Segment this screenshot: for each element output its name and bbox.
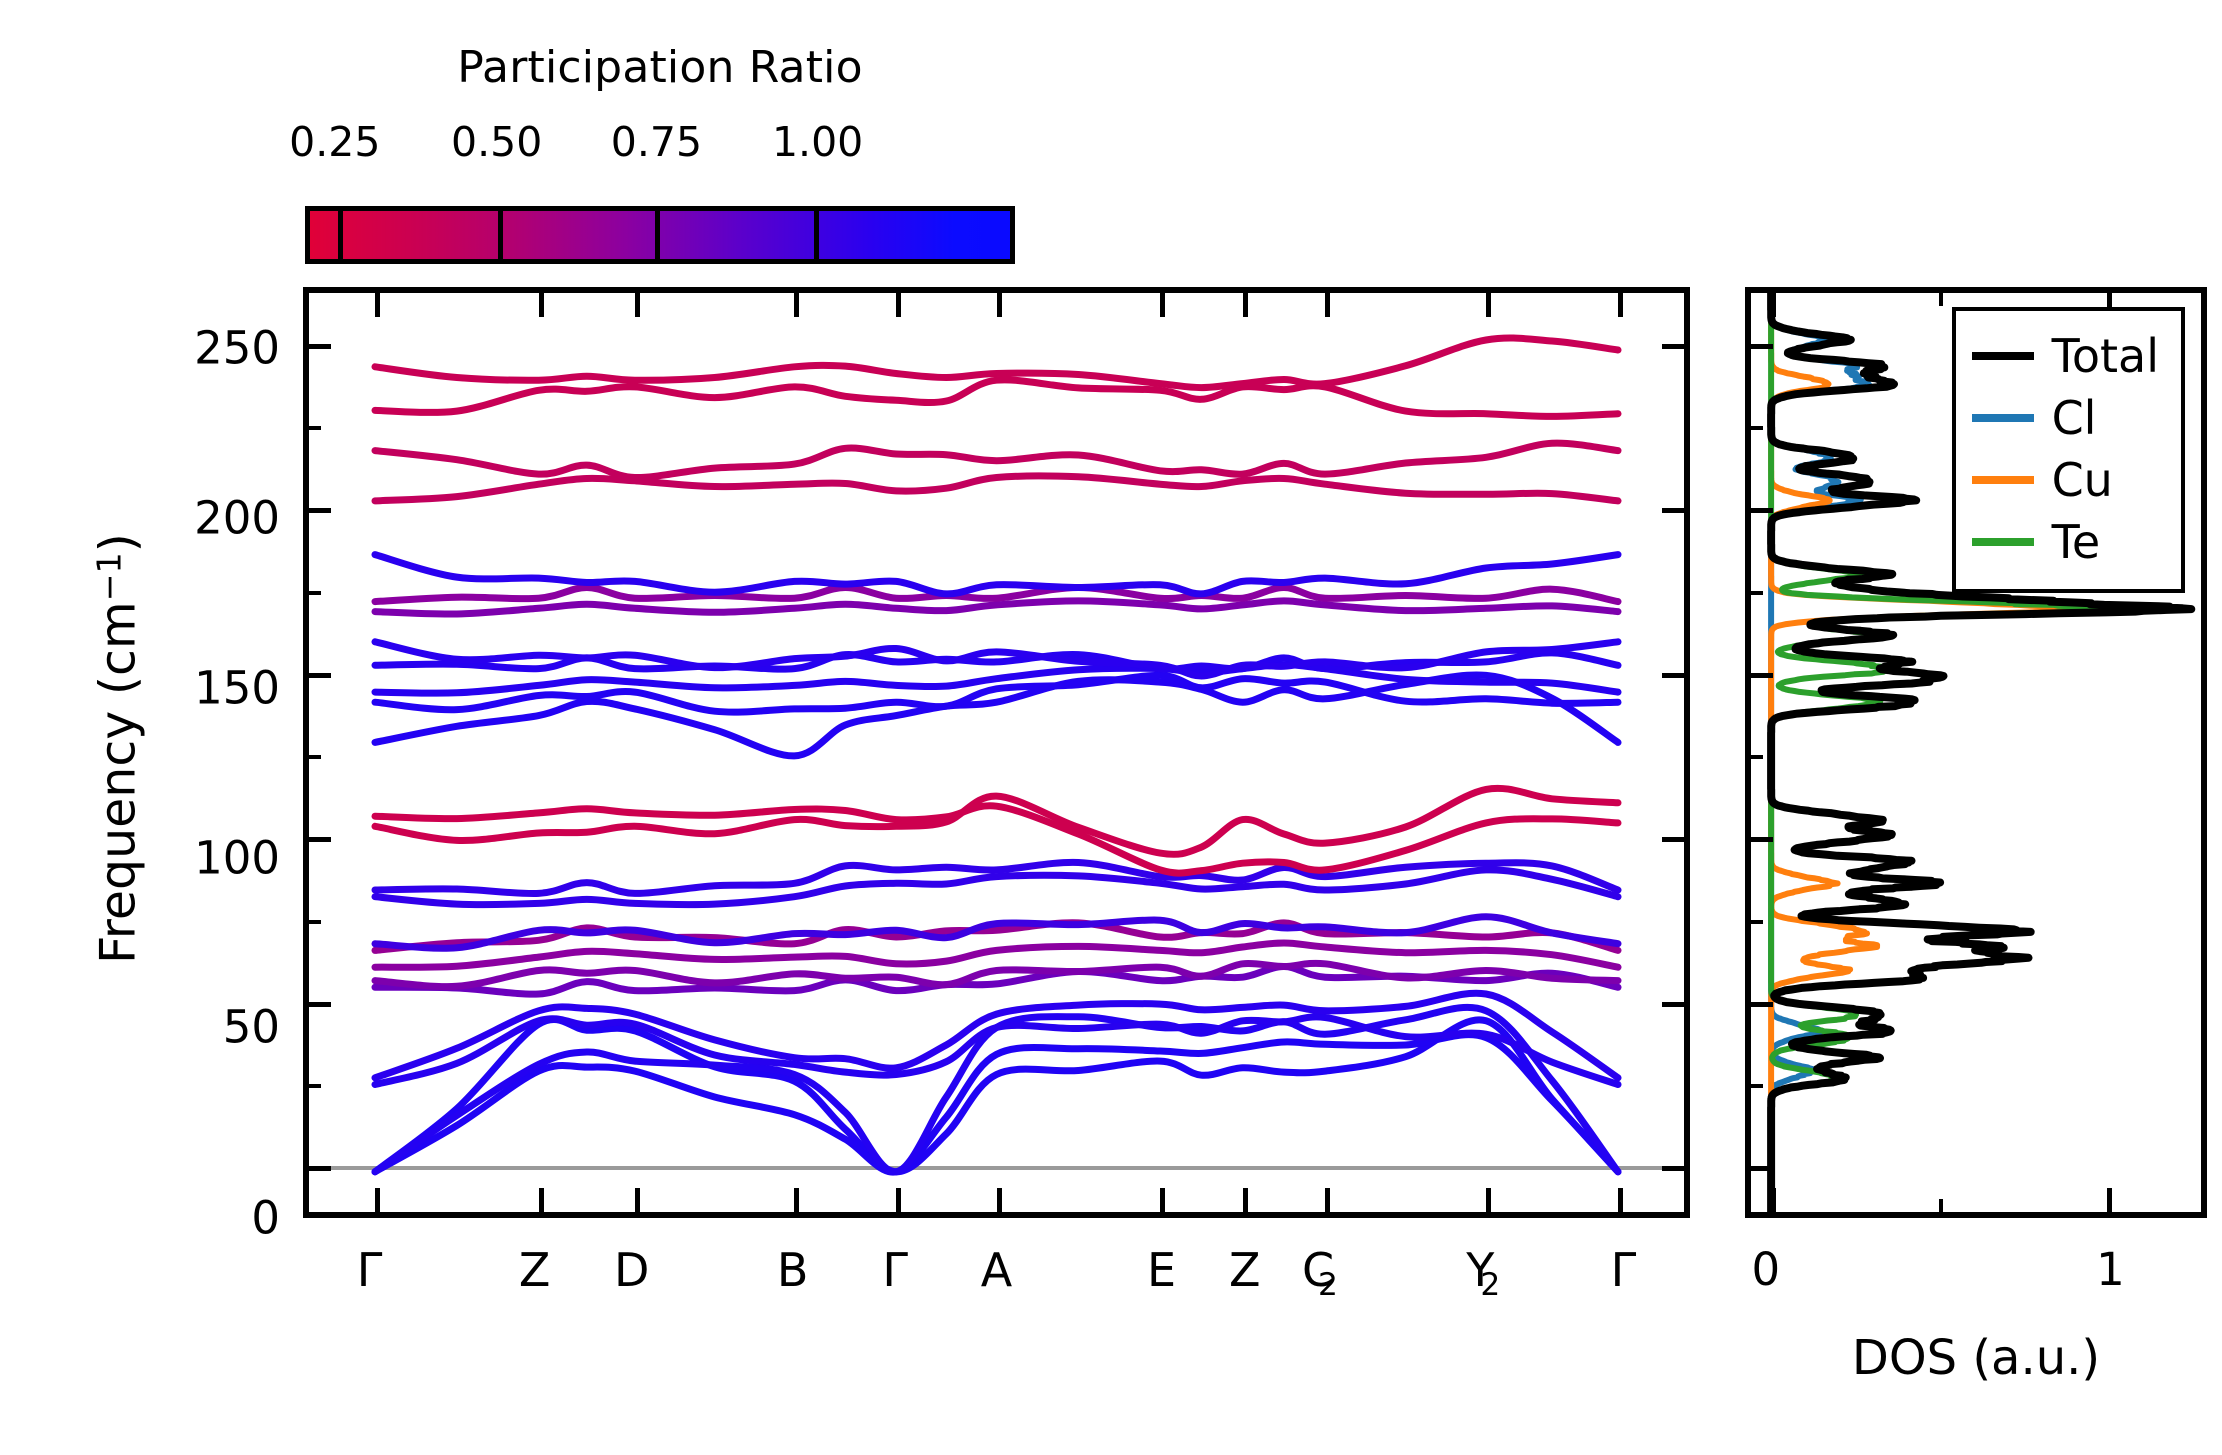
x-tick-Y2: [1486, 1188, 1491, 1212]
legend-item-te[interactable]: Te: [1972, 511, 2159, 573]
colorbar-tick-label-3: 1.00: [772, 118, 863, 166]
y-tick-0: [309, 1166, 331, 1171]
colorbar-tick-2: [655, 211, 660, 259]
x-tick-C2: [1325, 1188, 1330, 1212]
y-tick-right-250: [1662, 344, 1684, 349]
dos-x-tick-minor-05: [1939, 1199, 1943, 1212]
band-curve: [375, 555, 1618, 594]
dos-y-tick-100: [1751, 837, 1773, 842]
y-tick-100: [309, 837, 331, 842]
kpath-tick-labels: Γ Z D B Γ A E Z C2 Y2 Γ: [303, 1243, 1690, 1313]
band-curve: [375, 601, 1618, 614]
dos-x-tick-0: [1771, 1188, 1776, 1212]
band-curve: [375, 1007, 1618, 1172]
band-curve: [375, 943, 1618, 967]
y-tick-minor-125: [309, 755, 321, 759]
y-tick-label-100: 100: [194, 831, 280, 884]
band-structure-plot-area: [309, 293, 1684, 1212]
y-tick-label-50: 50: [223, 1001, 280, 1054]
legend-swatch-cl: [1972, 414, 2034, 422]
y-tick-50: [309, 1002, 331, 1007]
colorbar-tick-label-0: 0.25: [289, 118, 380, 166]
colorbar-tick-1: [498, 211, 503, 259]
colorbar-tick-label-1: 0.50: [451, 118, 542, 166]
x-tick-D: [635, 1188, 640, 1212]
x-tick-top-D: [635, 293, 640, 317]
x-tick-top-gamma-3: [1618, 293, 1623, 317]
y-tick-250: [309, 344, 331, 349]
x-tick-top-A: [997, 293, 1002, 317]
legend-item-cl[interactable]: Cl: [1972, 387, 2159, 449]
x-tick-top-gamma-2: [896, 293, 901, 317]
y-tick-minor-25: [309, 1084, 321, 1088]
band-structure-axes[interactable]: [303, 287, 1690, 1218]
legend-swatch-total: [1972, 352, 2034, 360]
x-tick-top-Z-1: [539, 293, 544, 317]
legend-label-total: Total: [2052, 333, 2159, 379]
colorbar-title: Participation Ratio: [305, 42, 1015, 93]
x-tick-B: [794, 1188, 799, 1212]
x-tick-gamma-3: [1618, 1188, 1623, 1212]
band-curve: [375, 476, 1618, 501]
band-curve: [375, 443, 1618, 477]
x-tick-top-Y2: [1486, 293, 1491, 317]
dos-x-tick-top-minor-05: [1939, 293, 1943, 306]
dos-x-tick-1: [2107, 1188, 2112, 1212]
legend-label-te: Te: [2052, 519, 2101, 565]
band-curve: [375, 588, 1618, 602]
dos-x-tick-labels: 0 1: [1745, 1243, 2207, 1313]
y-tick-right-200: [1662, 508, 1684, 513]
dos-y-tick-250: [1751, 344, 1773, 349]
dos-x-tick-label-1: 1: [2096, 1243, 2125, 1296]
y-tick-minor-225: [309, 426, 321, 430]
dos-y-tick-minor-175: [1751, 591, 1763, 595]
dos-y-tick-minor-25: [1751, 1084, 1763, 1088]
dos-y-tick-150: [1751, 673, 1773, 678]
dos-x-axis-label: DOS (a.u.): [1745, 1330, 2207, 1386]
x-tick-A: [997, 1188, 1002, 1212]
x-tick-Z-2: [1243, 1188, 1248, 1212]
participation-ratio-colorbar[interactable]: [305, 206, 1015, 264]
y-tick-label-200: 200: [194, 491, 280, 544]
legend-swatch-te: [1972, 538, 2034, 546]
y-tick-minor-175: [309, 591, 321, 595]
y-tick-right-0: [1662, 1166, 1684, 1171]
y-tick-150: [309, 673, 331, 678]
legend-item-cu[interactable]: Cu: [1972, 449, 2159, 511]
dos-legend[interactable]: Total Cl Cu Te: [1952, 307, 2185, 593]
kpath-label-8: C2: [1318, 1243, 1338, 1303]
x-tick-gamma-1: [375, 1188, 380, 1212]
x-tick-Z-1: [539, 1188, 544, 1212]
dos-x-tick-top-0: [1771, 293, 1776, 317]
y-tick-right-100: [1662, 837, 1684, 842]
x-tick-top-Z-2: [1243, 293, 1248, 317]
dos-y-tick-minor-75: [1751, 920, 1763, 924]
y-tick-minor-75: [309, 920, 321, 924]
x-tick-top-E: [1160, 293, 1165, 317]
phonon-band-structure-dos-figure: Participation Ratio 0.25 0.50 0.75 1.00 …: [0, 0, 2222, 1455]
y-tick-label-250: 250: [194, 322, 280, 375]
x-tick-gamma-2: [896, 1188, 901, 1212]
x-tick-top-B: [794, 293, 799, 317]
x-tick-E: [1160, 1188, 1165, 1212]
dos-y-tick-0: [1751, 1166, 1773, 1171]
dos-y-tick-minor-125: [1751, 755, 1763, 759]
y-tick-label-150: 150: [194, 661, 280, 714]
legend-swatch-cu: [1972, 476, 2034, 484]
colorbar-tick-label-2: 0.75: [611, 118, 702, 166]
dos-y-tick-200: [1751, 508, 1773, 513]
kpath-label-9: Y2: [1480, 1243, 1500, 1303]
y-tick-right-50: [1662, 1002, 1684, 1007]
dos-y-tick-minor-225: [1751, 426, 1763, 430]
legend-label-cu: Cu: [2052, 457, 2113, 503]
band-y-tick-labels: 0 50 100 150 200 250: [0, 287, 280, 1218]
x-tick-top-C2: [1325, 293, 1330, 317]
y-tick-label-0: 0: [251, 1192, 280, 1245]
dos-x-tick-label-0: 0: [1751, 1243, 1780, 1296]
colorbar-tick-labels: 0.25 0.50 0.75 1.00: [305, 118, 1015, 168]
y-tick-right-150: [1662, 673, 1684, 678]
band-curve: [375, 380, 1618, 417]
colorbar-tick-3: [814, 211, 819, 259]
legend-item-total[interactable]: Total: [1972, 325, 2159, 387]
band-structure-curves: [309, 293, 1684, 1212]
dos-axes[interactable]: Total Cl Cu Te: [1745, 287, 2207, 1218]
x-tick-top-gamma-1: [375, 293, 380, 317]
y-tick-200: [309, 508, 331, 513]
legend-label-cl: Cl: [2052, 395, 2097, 441]
colorbar-tick-0: [338, 211, 343, 259]
dos-y-tick-50: [1751, 1002, 1773, 1007]
